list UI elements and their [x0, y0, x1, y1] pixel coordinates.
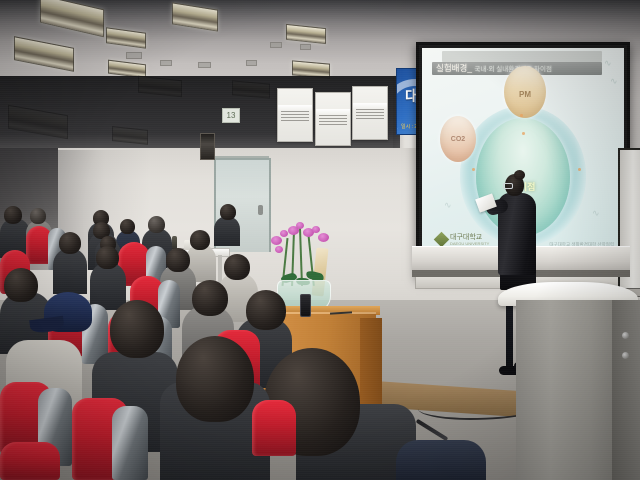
- poster-glare: [316, 109, 350, 115]
- auditorium-seat-back: [112, 406, 148, 480]
- wall-poster: [277, 88, 313, 142]
- slide-logo-text: 대구대학교 DAEGU UNIVERSITY: [450, 234, 489, 246]
- audience-head: [4, 268, 38, 302]
- slide-title-main: 실험배경_: [436, 63, 472, 73]
- lectern-side: [612, 300, 640, 480]
- audience-head: [224, 254, 250, 280]
- orchid-bloom: [271, 236, 282, 245]
- ceiling-vent: [300, 44, 311, 50]
- ceiling-vent: [198, 62, 211, 68]
- audience-head: [190, 230, 210, 250]
- audience-head: [96, 246, 119, 269]
- audience-head: [30, 208, 46, 224]
- audience-member: [90, 262, 126, 310]
- podium-side-panel: [360, 318, 382, 418]
- poster-glare: [278, 105, 312, 111]
- auditorium-seat: [0, 442, 60, 480]
- ceiling-light-fixture: [172, 2, 218, 31]
- ceiling-vent: [246, 60, 257, 66]
- wall-poster: [315, 92, 351, 146]
- slide-university-logo: 대구대학교 DAEGU UNIVERSITY: [436, 234, 489, 246]
- slide-decor-mark: ∿: [444, 200, 452, 211]
- lectern-knob[interactable]: [622, 352, 629, 359]
- poster-glare: [353, 103, 387, 109]
- audience-head: [192, 280, 228, 316]
- audience-head: [148, 216, 165, 233]
- slide-decor-mark: ∿: [604, 58, 612, 69]
- poster-text-lines: [319, 115, 347, 125]
- slide-bubble-pm-label: PM: [504, 90, 546, 99]
- slide-accent-dot: [578, 168, 581, 171]
- orchid-bloom: [296, 222, 304, 229]
- audience-head: [176, 336, 254, 422]
- poster-text-lines: [356, 109, 384, 119]
- lectern-knob[interactable]: [622, 332, 629, 339]
- mobile-phone: [300, 294, 311, 317]
- slide-bubble-pm: PM: [504, 66, 546, 118]
- auditorium-seat: [252, 400, 296, 456]
- room-number-sign: 13: [222, 108, 240, 123]
- audience-head: [166, 248, 190, 272]
- ceiling-vent: [160, 60, 172, 66]
- ceiling-light-fixture: [106, 27, 146, 49]
- audience-head: [120, 219, 135, 234]
- lecture-hall-photo: 13 대구 대 일시 : 2009. 11. 실험배경_ 국내·외 실내환경기준…: [0, 0, 640, 480]
- door-handle[interactable]: [258, 205, 263, 215]
- audience-head: [4, 206, 22, 224]
- poster-text-lines: [281, 111, 309, 121]
- slide-title-shadow: [442, 51, 602, 62]
- ceiling-light-fixture: [286, 24, 326, 44]
- wall-speaker: [200, 133, 215, 160]
- orchid-bloom: [318, 233, 329, 242]
- presenter-glasses: [503, 183, 513, 189]
- audience-head: [246, 290, 286, 330]
- audience-member: [396, 440, 486, 480]
- slide-decor-mark: ∿: [610, 76, 618, 87]
- audience-member: [214, 216, 240, 246]
- ceiling-vent: [126, 52, 142, 59]
- orchid-bloom: [275, 246, 283, 253]
- audience-head: [59, 232, 81, 254]
- slide-logo-name: 대구대학교: [450, 234, 482, 241]
- slide-accent-dot: [520, 114, 523, 117]
- slide-decor-mark: ∿: [592, 208, 600, 219]
- slide-accent-dot: [522, 132, 525, 135]
- audience-head: [220, 204, 236, 220]
- ceiling-vent: [270, 42, 282, 48]
- slide-accent-dot: [472, 168, 475, 171]
- ceiling-light-fixture: [14, 36, 74, 72]
- ceiling-light-fixture: [40, 0, 104, 37]
- presenter-hair-bun: [514, 170, 525, 180]
- slide-bubble-co2-label: CO2: [440, 136, 476, 143]
- audience-member: [53, 248, 87, 294]
- audience-head: [110, 300, 164, 358]
- orchid-bloom: [280, 230, 288, 237]
- slide-bubble-co2: CO2: [440, 116, 476, 162]
- wall-poster: [352, 86, 388, 140]
- orchid-bloom: [312, 226, 320, 233]
